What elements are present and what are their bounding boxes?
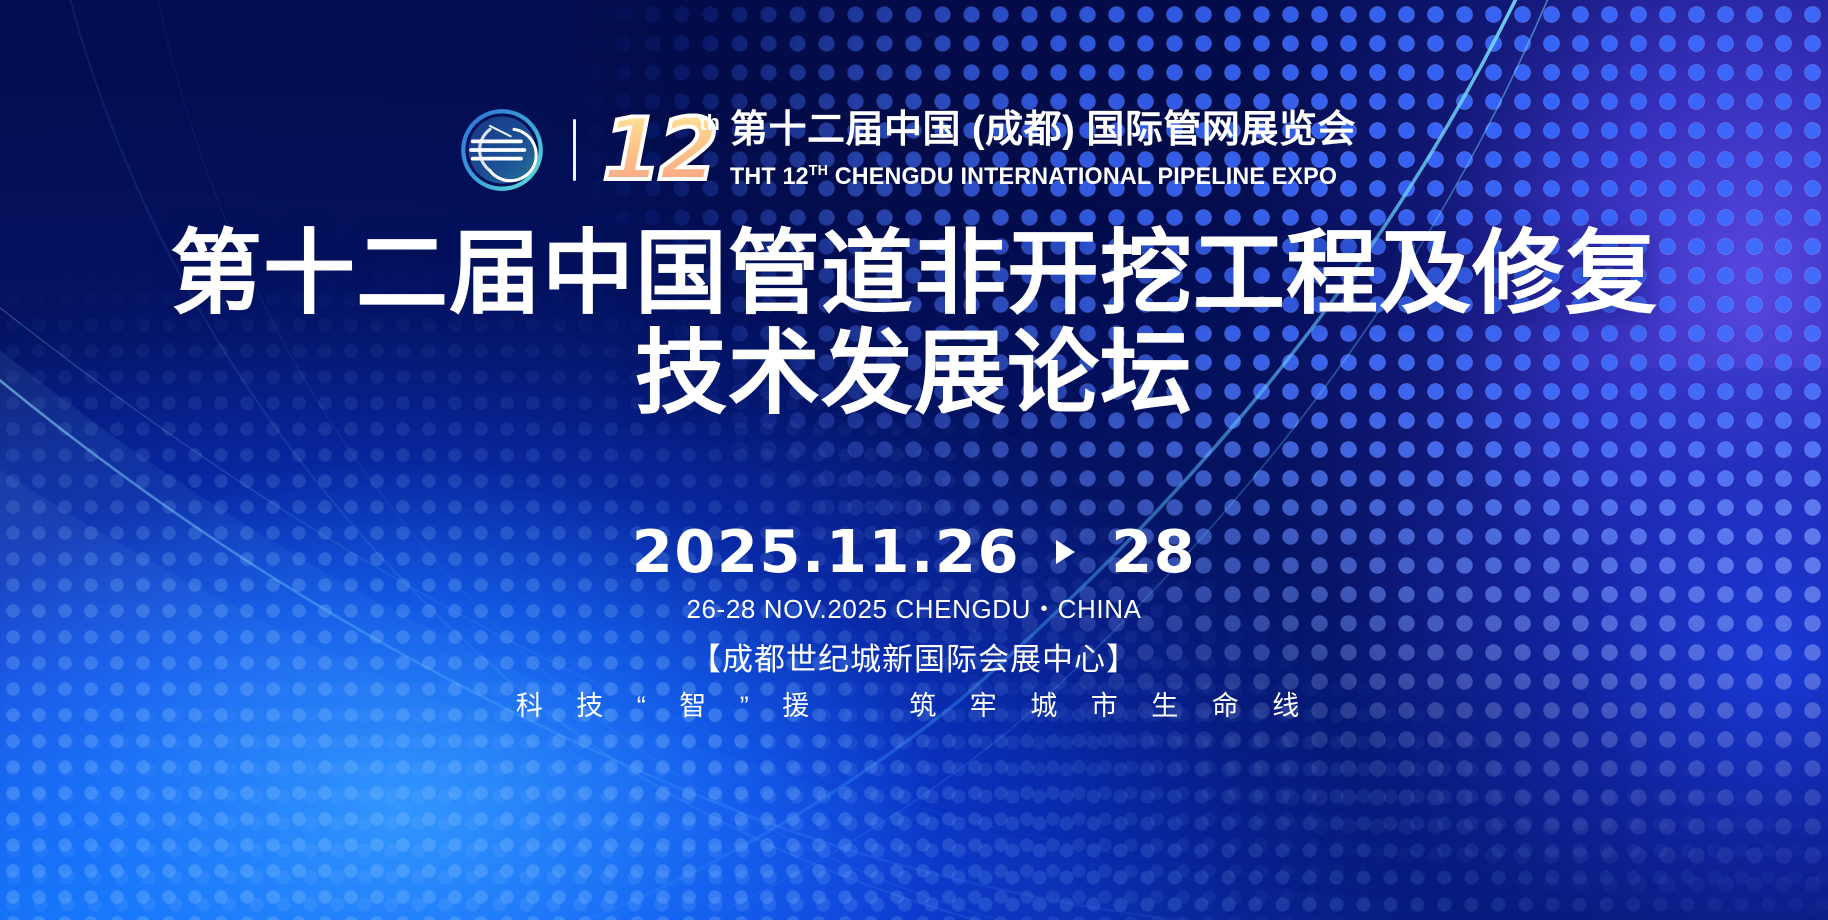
play-triangle-icon	[1056, 540, 1075, 564]
pipeline-circle-emblem-icon	[459, 107, 545, 193]
event-venue: 【成都世纪城新国际会展中心】	[690, 641, 1138, 679]
event-date: 2025.11.26 28	[632, 520, 1196, 584]
edition-number-suffix: th	[699, 110, 720, 136]
event-date-end: 28	[1111, 517, 1196, 586]
org-name-en-prefix: THT 12	[730, 163, 809, 190]
slogan: 科 技 “ 智 ” 援 筑 牢 城 市 生 命 线	[0, 688, 1828, 724]
banner-content: 12 th 第十二届中国 (成都) 国际管网展览会 THT 12TH CHENG…	[0, 0, 1828, 920]
masthead: 12 th 第十二届中国 (成都) 国际管网展览会 THT 12TH CHENG…	[459, 104, 1369, 196]
org-name-en-superscript: TH	[809, 162, 828, 179]
expo-banner: 12 th 第十二届中国 (成都) 国际管网展览会 THT 12TH CHENG…	[0, 0, 1828, 920]
vertical-divider-icon	[573, 119, 576, 181]
event-date-english: 26-28 NOV.2025 CHENGDU・CHINA	[686, 593, 1141, 625]
page-title: 第十二届中国管道非开挖工程及修复 技术发展论坛	[170, 224, 1658, 424]
page-title-line1: 第十二届中国管道非开挖工程及修复	[170, 223, 1658, 325]
page-title-line2: 技术发展论坛	[170, 324, 1658, 424]
edition-number: 12 th	[602, 106, 718, 194]
org-name-en: THT 12TH CHENGDU INTERNATIONAL PIPELINE …	[730, 155, 1337, 193]
masthead-text: 第十二届中国 (成都) 国际管网展览会 THT 12TH CHENGDU INT…	[728, 107, 1369, 193]
org-name-cn: 第十二届中国 (成都) 国际管网展览会	[730, 107, 1369, 153]
org-name-en-rest: CHENGDU INTERNATIONAL PIPELINE EXPO	[828, 163, 1337, 190]
slogan-part1: 科 技 “ 智 ” 援	[516, 691, 823, 721]
slogan-part2: 筑 牢 城 市 生 命 线	[909, 691, 1312, 721]
event-date-start: 2025.11.26	[632, 517, 1020, 586]
